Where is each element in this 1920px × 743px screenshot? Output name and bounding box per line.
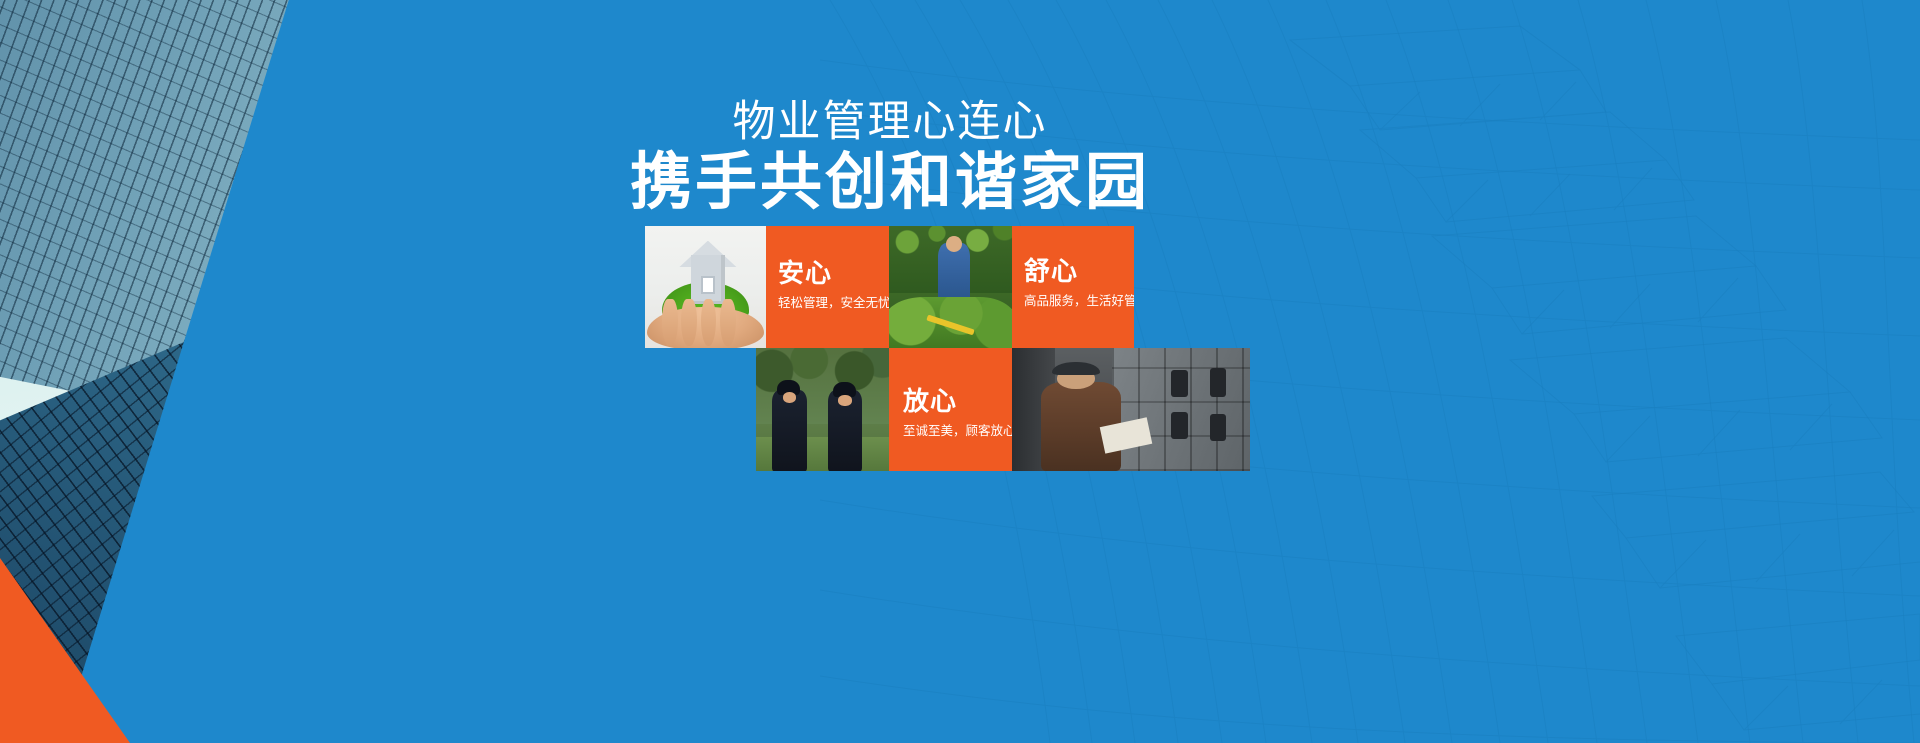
hands-holding-grass-house-image — [645, 226, 766, 348]
card-anxin[interactable]: 安心 轻松管理，安全无忧 — [766, 226, 889, 348]
gardener-head — [946, 236, 962, 252]
card-shuxin[interactable]: 舒心 高品服务，生活好管家 — [1012, 226, 1134, 348]
panel-handle — [1210, 368, 1227, 398]
panel-handle — [1171, 370, 1188, 397]
card-photo-home-in-hands — [645, 226, 766, 348]
gardener-trimming-hedge-image — [889, 226, 1012, 348]
property-management-banner: 物业管理心连心 携手共创和谐家园 安心 轻松管理，安全无忧 — [0, 0, 1920, 743]
guard-face — [783, 392, 796, 403]
card-fangxin-title: 放心 — [903, 388, 1006, 414]
card-anxin-title: 安心 — [778, 260, 883, 286]
banner-headline: 物业管理心连心 携手共创和谐家园 — [630, 98, 1150, 218]
card-photo-security-guards — [756, 348, 889, 471]
panel-handle — [1210, 414, 1227, 441]
switchgear-panel — [1112, 348, 1250, 471]
headline-line-1: 物业管理心连心 — [630, 98, 1150, 146]
card-shuxin-subtitle: 高品服务，生活好管家 — [1024, 295, 1128, 308]
feature-card-grid: 安心 轻松管理，安全无忧 舒心 高品服务，生活好管家 — [645, 226, 1255, 471]
security-guards-image — [756, 348, 889, 471]
grid-empty-cell — [645, 348, 756, 471]
house-window — [701, 276, 716, 294]
card-photo-electrician — [1012, 348, 1250, 471]
electrician-at-switchgear-image — [1012, 348, 1250, 471]
card-fangxin-subtitle: 至诚至美，顾客放心 — [903, 425, 1006, 438]
finger — [681, 299, 697, 345]
finger — [662, 299, 678, 345]
card-shuxin-title: 舒心 — [1024, 258, 1128, 284]
guard-face — [838, 395, 851, 406]
headline-line-2: 携手共创和谐家园 — [630, 148, 1150, 217]
finger — [720, 299, 736, 345]
panel-handle — [1171, 412, 1188, 439]
card-photo-gardener — [889, 226, 1012, 348]
safety-helmet — [1052, 362, 1100, 376]
card-anxin-subtitle: 轻松管理，安全无忧 — [778, 297, 883, 310]
card-fangxin[interactable]: 放心 至诚至美，顾客放心 — [889, 348, 1012, 471]
